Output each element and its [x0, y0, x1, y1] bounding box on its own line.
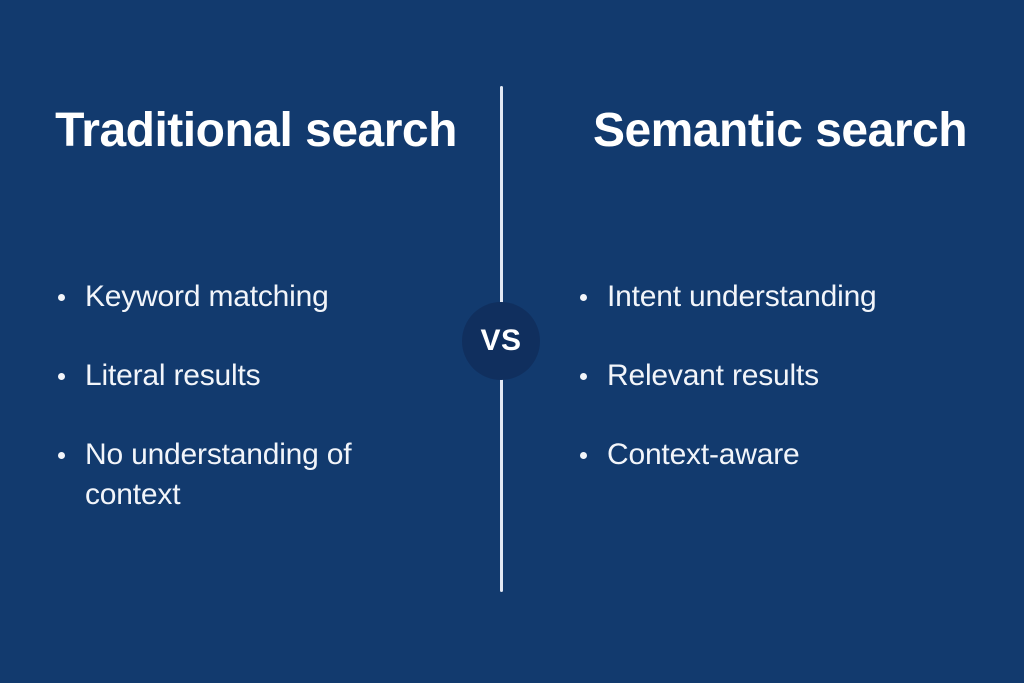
- column-heading-traditional-search: Traditional search: [0, 100, 572, 162]
- list-item: No understanding of context: [50, 435, 450, 515]
- list-item: Relevant results: [572, 356, 1002, 396]
- bullet-list-semantic-search: Intent understanding Relevant results Co…: [572, 277, 1002, 475]
- column-heading-semantic-search: Semantic search: [512, 100, 1024, 162]
- bullet-list-traditional-search: Keyword matching Literal results No unde…: [50, 277, 450, 515]
- list-item: Keyword matching: [50, 277, 450, 317]
- column-traditional-search: Traditional search Keyword matching Lite…: [0, 0, 512, 683]
- comparison-slide: Traditional search Keyword matching Lite…: [0, 0, 1024, 683]
- versus-badge: vs: [462, 302, 540, 380]
- list-item: Context-aware: [572, 435, 1002, 475]
- column-semantic-search: Semantic search Intent understanding Rel…: [512, 0, 1024, 683]
- versus-badge-label: vs: [480, 326, 521, 356]
- list-item: Intent understanding: [572, 277, 1002, 317]
- list-item: Literal results: [50, 356, 450, 396]
